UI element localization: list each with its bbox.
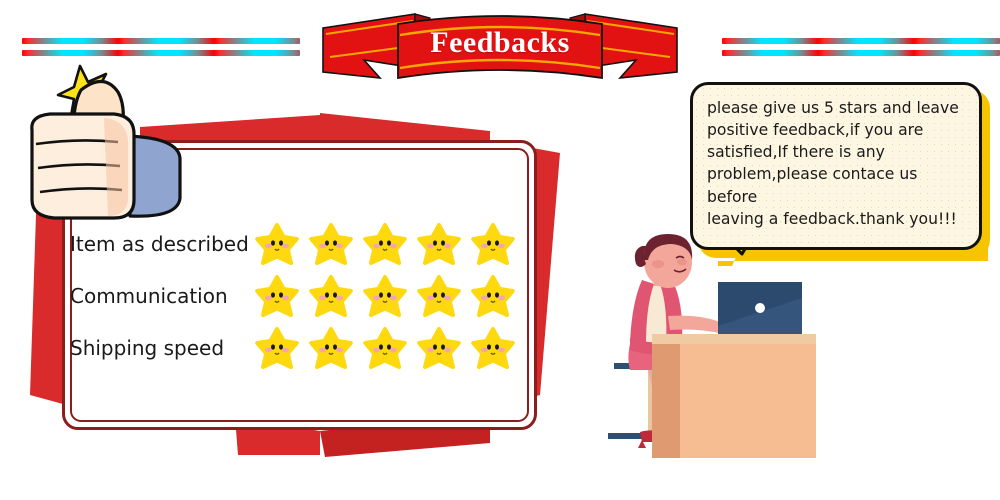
ratings-list: Item as described Communication Shipping…	[70, 218, 540, 374]
rating-label-item-as-described: Item as described	[70, 232, 250, 256]
star-icon	[471, 222, 515, 266]
ribbon-banner: Feedbacks	[320, 2, 680, 90]
star-icon	[309, 326, 353, 370]
rating-label-shipping-speed: Shipping speed	[70, 336, 250, 360]
striped-divider-left	[22, 38, 300, 56]
ribbon-shape	[320, 2, 680, 90]
star-icon	[417, 274, 461, 318]
feedback-banner-canvas: Feedbacks Item as descri	[0, 0, 1000, 500]
star-icon	[471, 326, 515, 370]
bubble-line-1: please give us 5 stars and leave	[707, 97, 967, 119]
thumbs-up-icon	[18, 58, 198, 243]
rating-stars-item-as-described	[255, 222, 525, 266]
star-icon	[417, 222, 461, 266]
rating-stars-communication	[255, 274, 525, 318]
speech-bubble-body: please give us 5 stars and leave positiv…	[690, 82, 982, 250]
star-icon	[309, 274, 353, 318]
bubble-line-2: positive feedback,if you are	[707, 119, 967, 141]
desk-front	[680, 344, 816, 458]
rating-row: Communication	[70, 270, 540, 322]
desk-side	[652, 344, 680, 458]
star-icon	[255, 326, 299, 370]
ribbon-band	[398, 16, 602, 78]
star-icon	[255, 274, 299, 318]
rating-label-communication: Communication	[70, 284, 250, 308]
divider-bar	[722, 38, 1000, 44]
speech-bubble: please give us 5 stars and leave positiv…	[688, 80, 993, 330]
bubble-line-4: problem,please contace us before	[707, 163, 967, 207]
divider-bar	[722, 50, 1000, 56]
bubble-line-3: satisfied,If there is any	[707, 141, 967, 163]
star-icon	[363, 326, 407, 370]
desk-top	[652, 334, 816, 344]
rating-stars-shipping-speed	[255, 326, 525, 370]
rating-row: Item as described	[70, 218, 540, 270]
bubble-line-5: leaving a feedback.thank you!!!	[707, 208, 967, 230]
star-icon	[363, 274, 407, 318]
blush	[652, 260, 664, 268]
star-icon	[471, 274, 515, 318]
blush	[677, 259, 687, 266]
sleeve-cuff	[128, 136, 180, 216]
star-icon	[417, 326, 461, 370]
star-icon	[363, 222, 407, 266]
rating-row: Shipping speed	[70, 322, 540, 374]
star-icon	[255, 222, 299, 266]
star-icon	[309, 222, 353, 266]
divider-bar	[22, 50, 300, 56]
divider-bar	[22, 38, 300, 44]
striped-divider-right	[722, 38, 1000, 56]
